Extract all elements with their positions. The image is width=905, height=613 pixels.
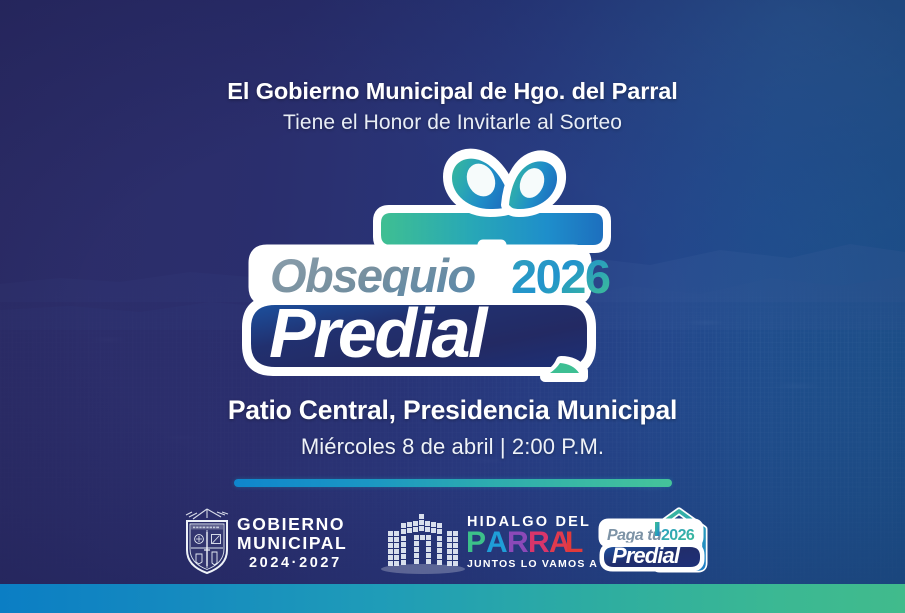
logo-year: 2026	[511, 250, 610, 303]
venue-place: Patio Central, Presidencia Municipal	[228, 395, 677, 426]
venue-datetime: Miércoles 8 de abril | 2:00 P.M.	[228, 434, 677, 460]
svg-text:A: A	[486, 526, 508, 559]
obsequio-predial-logo: Obsequio 2026 Predial	[243, 145, 663, 377]
svg-text:MUNICIPAL: MUNICIPAL	[237, 533, 347, 553]
header-title: El Gobierno Municipal de Hgo. del Parral	[227, 78, 677, 105]
logo-word-predial: Predial	[269, 294, 489, 372]
parral-coat-of-arms-icon	[186, 509, 228, 573]
logo-gobierno-municipal: GOBIERNO MUNICIPAL 2024·2027	[179, 504, 349, 576]
poster-canvas: El Gobierno Municipal de Hgo. del Parral…	[0, 0, 905, 613]
header-subtitle: Tiene el Honor de Invitarle al Sorteo	[227, 111, 677, 135]
paga-line1: Paga tu	[607, 527, 662, 544]
svg-text:R: R	[528, 526, 550, 559]
svg-text:R: R	[507, 526, 529, 559]
paga-year: 2026	[661, 527, 695, 544]
header-block: El Gobierno Municipal de Hgo. del Parral…	[227, 78, 677, 135]
logo-paga-tu-predial: Paga tu 2026 Predial	[599, 507, 727, 573]
paga-line2: Predial	[612, 543, 681, 568]
gift-bow	[449, 155, 560, 211]
svg-text:L: L	[565, 526, 584, 559]
svg-text:GOBIERNO: GOBIERNO	[237, 514, 345, 534]
venue-block: Patio Central, Presidencia Municipal Mié…	[228, 395, 677, 460]
gobierno-municipal-text: GOBIERNO MUNICIPAL 2024·2027	[237, 514, 347, 571]
svg-text:2024·2027: 2024·2027	[249, 555, 342, 571]
gradient-divider	[234, 479, 672, 487]
svg-text:P: P	[466, 526, 487, 559]
parral-wordmark: P A R R A L	[466, 526, 584, 559]
footer-logo-row: GOBIERNO MUNICIPAL 2024·2027	[179, 504, 727, 576]
logo-hidalgo-del-parral: HIDALGO DEL P A R R A L JUNTOS LO VAMOS …	[379, 505, 569, 575]
bottom-gradient-strip	[0, 584, 905, 613]
puente-guanajuato-arch-icon	[381, 514, 465, 574]
